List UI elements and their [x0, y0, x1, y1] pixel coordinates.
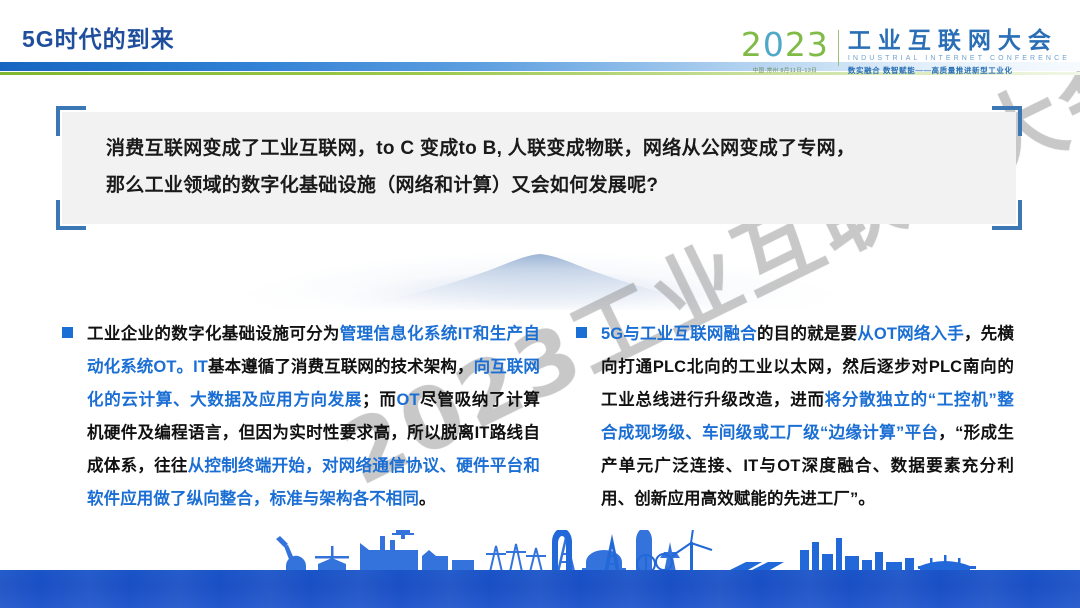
quote-box: 消费互联网变成了工业互联网，to C 变成to B, 人联变成物联，网络从公网变…: [62, 112, 1016, 224]
corner-bracket-bottom-left-icon: [56, 200, 86, 230]
bullet-square-icon-left: [62, 327, 73, 338]
bullet-square-icon-right: [576, 327, 587, 338]
logo-slogan: 数实融合 数智赋能——高质量推进新型工业化: [848, 65, 1070, 76]
right-column: 5G与工业互联网融合的目的就是要从OT网络入手，先横向打通PLC北向的工业以太网…: [576, 318, 1014, 516]
text-segment-5: OT: [397, 391, 420, 409]
background-mountain-decoration: [230, 248, 850, 310]
logo-name-en: INDUSTRIAL INTERNET CONFERENCE: [848, 55, 1070, 62]
left-column: 工业企业的数字化基础设施可分为管理信息化系统IT和生产自动化系统OT。IT基本遵…: [62, 318, 540, 516]
slide-root: 2023工业互联网大会 5G时代的到来 2023 中国·常州 8月11日-13日…: [0, 0, 1080, 608]
right-paragraph: 5G与工业互联网融合的目的就是要从OT网络入手，先横向打通PLC北向的工业以太网…: [601, 318, 1014, 516]
logo-year-block: 2023 中国·常州 8月11日-13日: [741, 28, 838, 74]
quote-line-1: 消费互联网变成了工业互联网，to C 变成to B, 人联变成物联，网络从公网变…: [106, 130, 986, 167]
left-paragraph: 工业企业的数字化基础设施可分为管理信息化系统IT和生产自动化系统OT。IT基本遵…: [87, 318, 540, 516]
skyline-silhouette: [0, 530, 1080, 572]
text-segment-2: 从OT网络入手: [857, 325, 964, 343]
left-bullet-row: 工业企业的数字化基础设施可分为管理信息化系统IT和生产自动化系统OT。IT基本遵…: [62, 318, 540, 516]
text-segment-1: 的目的就是要: [757, 325, 857, 343]
text-segment-0: 5G与工业互联网融合: [601, 325, 757, 343]
logo-date-line: 中国·常州 8月11日-13日: [753, 66, 818, 74]
text-segment-0: 工业企业的数字化基础设施可分为: [87, 325, 340, 343]
text-segment-8: 。: [419, 490, 436, 508]
text-segment-2: 基本遵循了消费互联网的技术架构，: [208, 358, 474, 376]
background-peak-shape: [330, 250, 750, 310]
conference-logo: 2023 中国·常州 8月11日-13日 工业互联网大会 INDUSTRIAL …: [741, 28, 1070, 76]
corner-bracket-bottom-right-icon: [992, 200, 1022, 230]
text-segment-4: ；而: [362, 391, 396, 409]
sea-band: [0, 570, 1080, 608]
corner-bracket-top-right-icon: [992, 106, 1022, 136]
logo-year-o-glyph: 0: [763, 25, 785, 64]
logo-year: 2023: [741, 28, 829, 61]
footer-decoration: [0, 530, 1080, 608]
quote-text: 消费互联网变成了工业互联网，to C 变成to B, 人联变成物联，网络从公网变…: [106, 130, 986, 204]
logo-name-block: 工业互联网大会 INDUSTRIAL INTERNET CONFERENCE 数…: [839, 28, 1070, 76]
page-title: 5G时代的到来: [22, 20, 175, 54]
right-bullet-row: 5G与工业互联网融合的目的就是要从OT网络入手，先横向打通PLC北向的工业以太网…: [576, 318, 1014, 516]
corner-bracket-top-left-icon: [56, 106, 86, 136]
logo-name-cn: 工业互联网大会: [848, 28, 1070, 52]
quote-line-2: 那么工业领域的数字化基础设施（网络和计算）又会如何发展呢?: [106, 167, 986, 204]
